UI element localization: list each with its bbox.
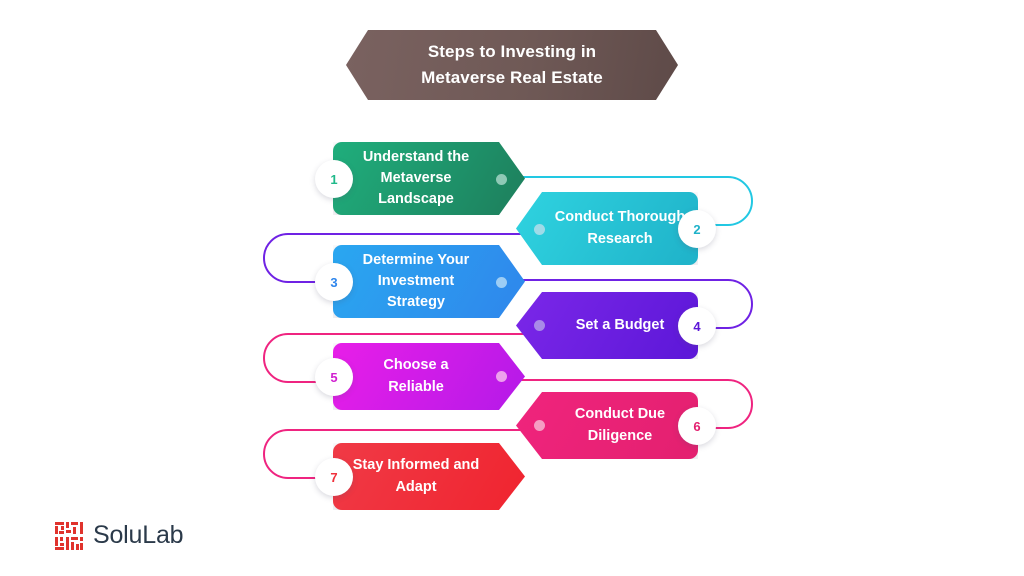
step-2-label: Conduct Thorough Research: [549, 207, 691, 249]
step-1-number-badge[interactable]: 1: [315, 160, 353, 198]
infographic-canvas: Steps to Investing in Metaverse Real Est…: [0, 0, 1024, 576]
page-title-line-1: Steps to Investing in: [428, 39, 596, 65]
step-7-number-badge[interactable]: 7: [315, 458, 353, 496]
step-6-label: Conduct Due Diligence: [569, 404, 671, 446]
step-2-connector-dot: [534, 224, 545, 235]
solulab-qr-mark-icon: [55, 522, 83, 550]
step-item-4[interactable]: Set a Budget 4: [516, 292, 698, 359]
step-7-number: 7: [330, 470, 337, 485]
step-1-label: Understand the Metaverse Landscape: [357, 147, 475, 210]
step-5-number: 5: [330, 370, 337, 385]
step-item-6[interactable]: Conduct Due Diligence 6: [516, 392, 698, 459]
solulab-logo[interactable]: SoluLab: [55, 521, 183, 550]
step-3-connector-dot: [496, 277, 507, 288]
step-7-shape: Stay Informed and Adapt: [333, 443, 525, 510]
step-5-connector-dot: [496, 371, 507, 382]
step-7-label: Stay Informed and Adapt: [347, 455, 486, 497]
step-2-number: 2: [693, 222, 700, 237]
step-1-connector-dot: [496, 174, 507, 185]
step-2-number-badge[interactable]: 2: [678, 210, 716, 248]
step-3-label: Determine Your Investment Strategy: [357, 250, 476, 313]
page-title-line-2: Metaverse Real Estate: [421, 65, 603, 91]
step-item-2[interactable]: Conduct Thorough Research 2: [516, 192, 698, 265]
step-5-label: Choose a Reliable: [377, 355, 454, 397]
step-1-number: 1: [330, 172, 337, 187]
page-title: Steps to Investing in Metaverse Real Est…: [346, 30, 678, 100]
step-4-number: 4: [693, 319, 700, 334]
step-item-7[interactable]: Stay Informed and Adapt 7: [333, 443, 525, 510]
step-3-number-badge[interactable]: 3: [315, 263, 353, 301]
step-4-number-badge[interactable]: 4: [678, 307, 716, 345]
step-6-number-badge[interactable]: 6: [678, 407, 716, 445]
step-item-1[interactable]: Understand the Metaverse Landscape 1: [333, 142, 525, 215]
solulab-wordmark: SoluLab: [93, 521, 183, 550]
step-4-connector-dot: [534, 320, 545, 331]
step-6-number: 6: [693, 419, 700, 434]
step-6-connector-dot: [534, 420, 545, 431]
step-item-5[interactable]: Choose a Reliable 5: [333, 343, 525, 410]
step-5-number-badge[interactable]: 5: [315, 358, 353, 396]
step-3-number: 3: [330, 275, 337, 290]
step-4-label: Set a Budget: [570, 315, 671, 336]
step-item-3[interactable]: Determine Your Investment Strategy 3: [333, 245, 525, 318]
step-5-overflow-label: Marketplace: [333, 411, 523, 427]
